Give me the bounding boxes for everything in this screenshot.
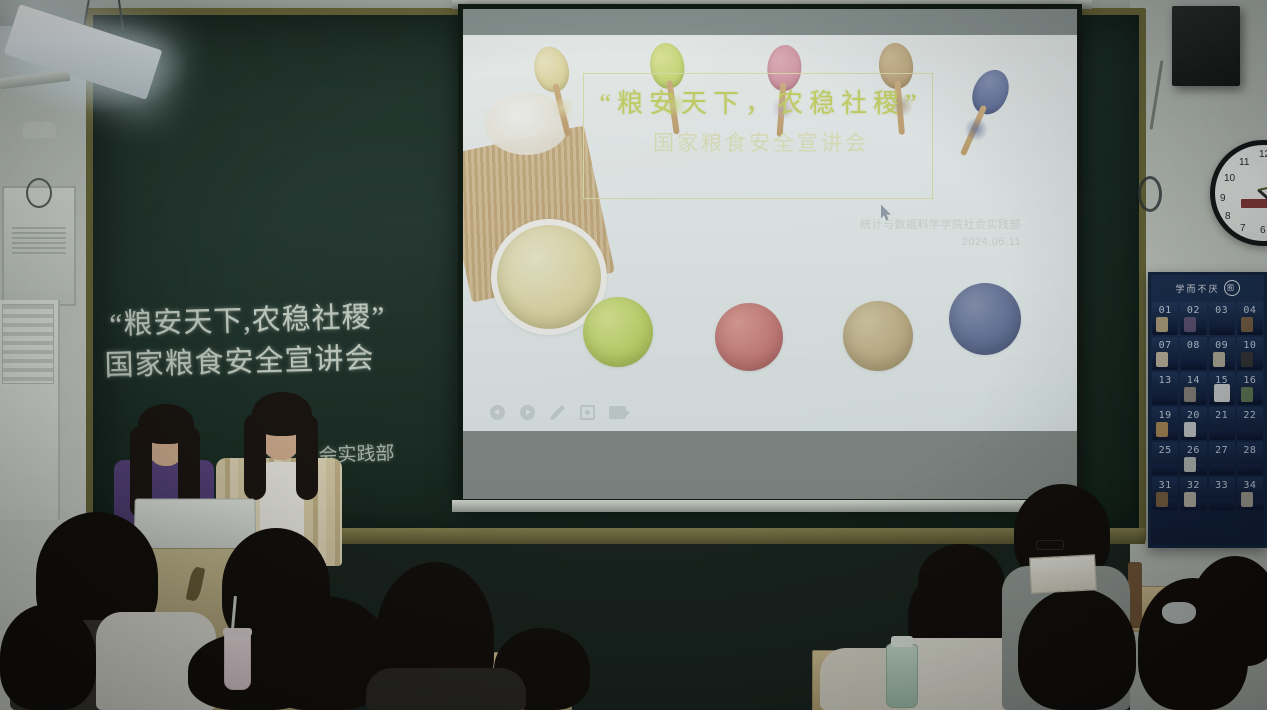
pocket-cell[interactable]: 08 [1180,337,1206,370]
pocket-number: 27 [1209,445,1235,456]
pocket-row: 31 32 33 34 [1151,476,1264,511]
letterbox-bottom [463,431,1077,499]
pocket-number: 32 [1180,480,1206,491]
clock-tick: 10 [1224,173,1235,184]
pocket-cell[interactable]: 03 [1209,302,1235,335]
pocket-slot [1238,429,1262,440]
clock-tick: 12 [1259,149,1267,160]
phone-pocket-board: 学而不厌 囿 01 02 03 04 07 08 09 10 13 14 15 … [1148,272,1267,548]
pocket-row: 25 26 27 28 [1151,441,1264,476]
pocket-slot [1210,324,1234,335]
phone-icon [1184,457,1196,472]
pocket-row: 19 20 21 22 [1151,406,1264,441]
slide-credit: 统计与数据科学学院社会实践部 2024.06.11 [860,217,1021,251]
clock-brand-badge [1241,199,1267,208]
notice-text-line [12,242,66,244]
clock-minute-hand [1258,182,1267,191]
phone-icon [1241,387,1253,402]
menu-icon[interactable] [609,404,626,421]
pocket-cell[interactable]: 22 [1237,407,1263,440]
letterbox-top [463,9,1077,35]
pocket-number: 28 [1237,445,1263,456]
clock-tick: 6 [1260,225,1266,236]
glasses-icon [1036,540,1064,550]
pocket-slot [1153,394,1177,405]
grain-spoon-decor [530,43,574,96]
pocket-cell[interactable]: 20 [1180,407,1206,440]
phone-icon [1213,352,1225,367]
zoom-icon[interactable] [579,404,596,421]
pocket-number: 26 [1180,445,1206,456]
pocket-board-header: 学而不厌 囿 [1151,275,1264,301]
pocket-number: 34 [1237,480,1263,491]
presenter-right-hair [244,414,266,500]
pocket-cell[interactable]: 13 [1152,372,1178,405]
pocket-number: 01 [1152,305,1178,316]
screen-bottom-bar [452,500,1092,512]
pocket-slot [1153,464,1177,475]
clock-tick: 8 [1225,211,1231,222]
chalkboard-handwriting: “粮安天下,农稳社稷” 国家粮食安全宣讲会 [109,295,461,387]
pocket-cell[interactable]: 31 [1152,477,1178,510]
clock-tick: 11 [1239,157,1249,168]
pocket-cell[interactable]: 07 [1152,337,1178,370]
clock-tick: 7 [1240,223,1246,234]
projection-screen: “粮安天下，农稳社稷” 国家粮食安全宣讲会 统计与数据科学学院社会实践部 202… [458,4,1082,504]
notice-title [8,218,70,224]
slide-subtitle: 国家粮食安全宣讲会 [571,127,951,157]
air-conditioner [0,300,60,520]
pocket-cell[interactable]: 14 [1180,372,1206,405]
cup-lid [223,628,252,636]
audience-body [366,668,526,710]
phone-icon [1184,422,1196,437]
pocket-cell[interactable]: 09 [1209,337,1235,370]
pocket-slot [1181,359,1205,370]
notice-text-line [12,227,66,229]
water-bottle [886,644,918,708]
red-bean-bowl-decor [715,303,783,371]
pocket-slot [1238,464,1262,475]
bottle-cap [891,636,913,647]
ceiling-sensor [22,122,56,138]
pocket-cell[interactable]: 32 [1180,477,1206,510]
pocket-cell[interactable]: 27 [1209,442,1235,475]
pocket-number: 09 [1209,340,1235,351]
school-logo-icon: 囿 [1224,280,1240,296]
notice-text-line [12,232,66,234]
phone-icon [1156,492,1168,507]
pocket-number: 22 [1237,410,1263,421]
phone-icon [1184,492,1196,507]
phone-icon [1156,422,1168,437]
audience-head [1018,588,1136,710]
prev-slide-icon[interactable] [489,404,506,421]
audience-head [1190,556,1267,666]
pocket-number: 14 [1180,375,1206,386]
phone-icon [1241,492,1253,507]
pen-icon[interactable] [549,404,566,421]
pocket-number: 25 [1152,445,1178,456]
podium-mark [186,566,206,602]
pocket-number: 04 [1237,305,1263,316]
ac-vent [2,304,54,384]
phone-icon [1156,352,1168,367]
mouse-cursor [881,205,892,221]
pocket-slot [1210,429,1234,440]
notice-text-line [12,237,66,239]
presentation-slide[interactable]: “粮安天下，农稳社稷” 国家粮食安全宣讲会 统计与数据科学学院社会实践部 202… [463,35,1077,431]
pocket-cell[interactable]: 10 [1237,337,1263,370]
pocket-cell[interactable]: 19 [1152,407,1178,440]
next-slide-icon[interactable] [519,404,536,421]
pocket-slot [1210,464,1234,475]
pocket-cell[interactable]: 16 [1237,372,1263,405]
pocket-cell[interactable]: 26 [1180,442,1206,475]
audience-head [918,544,1004,618]
wheat-bowl-decor [843,301,913,371]
pocket-cell[interactable]: 01 [1152,302,1178,335]
pocket-number: 02 [1180,305,1206,316]
phone-icon [1241,317,1253,332]
presenter-right-hair [296,414,318,500]
wall-fixture [1138,176,1162,212]
pocket-slot [1210,499,1234,510]
face-mask [1162,602,1196,624]
pocket-board-title: 学而不厌 [1175,282,1219,295]
pocket-cell[interactable]: 34 [1237,477,1263,510]
pocket-number: 13 [1152,375,1178,386]
pocket-number: 08 [1180,340,1206,351]
phone-icon [1184,387,1196,402]
hanging-ring-icon [26,178,52,208]
phone-icon [1184,317,1196,332]
pocket-number: 10 [1237,340,1263,351]
ppt-presenter-toolbar[interactable] [489,404,626,421]
phone-icon [1241,352,1253,367]
phone-icon [1156,317,1168,332]
classroom-scene: “粮安天下,农稳社稷” 国家粮食安全宣讲会 社会实践部 06.11 [0,0,1267,710]
papers [1029,554,1097,593]
clock-tick: 9 [1220,193,1226,204]
pocket-cell[interactable]: 04 [1237,302,1263,335]
pocket-number: 33 [1209,480,1235,491]
black-bean-bowl-decor [949,283,1021,355]
chair-back [1128,562,1142,628]
audience-head [0,604,96,710]
grain-spoon-decor [966,64,1016,120]
pocket-cell[interactable]: 28 [1237,442,1263,475]
pocket-row: 13 14 15 16 [1151,371,1264,406]
pocket-cell[interactable]: 33 [1209,477,1235,510]
pocket-cell[interactable]: 25 [1152,442,1178,475]
pocket-number: 16 [1237,375,1263,386]
pocket-number: 07 [1152,340,1178,351]
slide-date: 2024.06.11 [860,234,1021,251]
mung-bean-bowl-decor [583,297,653,367]
pocket-number: 21 [1209,410,1235,421]
notice-text-line [12,252,66,254]
pocket-cell[interactable]: 15 [1209,372,1235,405]
pocket-number: 03 [1209,305,1235,316]
pocket-number: 20 [1180,410,1206,421]
pocket-cell[interactable]: 02 [1180,302,1206,335]
pocket-cell[interactable]: 21 [1209,407,1235,440]
slide-title: “粮安天下，农稳社稷” [571,83,951,120]
notice-text-line [12,247,66,249]
phone-icon [1214,384,1230,402]
pocket-number: 31 [1152,480,1178,491]
wall-speaker [1172,6,1240,86]
pocket-number: 19 [1152,410,1178,421]
drink-cup [224,632,251,690]
pocket-row: 07 08 09 10 [1151,336,1264,371]
pocket-row: 01 02 03 04 [1151,301,1264,336]
